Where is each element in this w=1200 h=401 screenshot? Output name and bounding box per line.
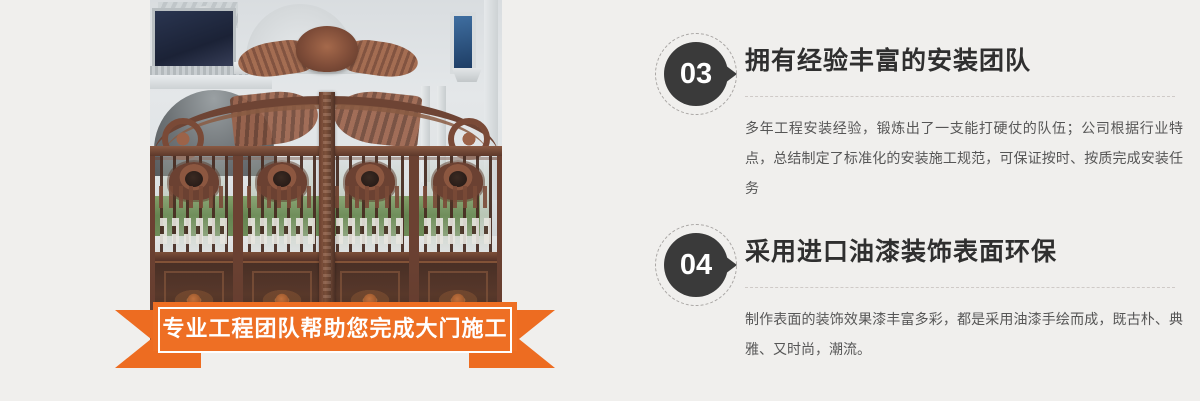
gate-crest <box>296 26 358 72</box>
gate-leaf-wing <box>159 186 229 208</box>
feature-list: 03 拥有经验丰富的安装团队 多年工程安装经验，锻炼出了一支能打硬仗的队伍；公司… <box>655 0 1175 401</box>
gate-leaf-mid-rail <box>419 252 497 261</box>
promo-banner: 专业工程团队帮助您完成大门施工 03 拥有经验丰富的安装团队 多年工程安装经验，… <box>0 0 1200 401</box>
gate-leaf-wing <box>423 186 493 208</box>
feature-divider <box>745 96 1175 97</box>
gate-photo <box>150 0 502 341</box>
photo-caption-ribbon: 专业工程团队帮助您完成大门施工 <box>115 310 555 368</box>
feature-body-text: 多年工程安装经验，锻炼出了一支能打硬仗的队伍；公司根据行业特点，总结制定了标准化… <box>745 114 1183 204</box>
feature-badge-03: 03 <box>655 33 737 115</box>
feature-number: 04 <box>664 233 728 297</box>
feature-title: 拥有经验丰富的安装团队 <box>745 45 1175 77</box>
gate-structure <box>150 0 502 341</box>
feature-divider <box>745 287 1175 288</box>
feature-heading-wrap: 采用进口油漆装饰表面环保 <box>745 236 1175 268</box>
ribbon-caption-text: 专业工程团队帮助您完成大门施工 <box>153 302 517 351</box>
gate-leaf-wing <box>335 186 405 208</box>
feature-badge-04: 04 <box>655 224 737 306</box>
ribbon-inner-border-bottom <box>158 351 512 353</box>
feature-body-text: 制作表面的装饰效果漆丰富多彩，都是采用油漆手绘而成，既古朴、典雅、又时尚，潮流。 <box>745 305 1183 365</box>
gate-leaf-wing <box>247 186 317 208</box>
gate-leaf-mid-rail <box>155 252 233 261</box>
gate-leaf-balusters <box>424 218 492 244</box>
feature-title: 采用进口油漆装饰表面环保 <box>745 236 1175 268</box>
gate-photo-image <box>150 0 502 341</box>
gate-leaf-balusters <box>336 218 404 244</box>
feature-number: 03 <box>664 42 728 106</box>
gate-leaf-mid-rail <box>331 252 409 261</box>
feature-heading-wrap: 拥有经验丰富的安装团队 <box>745 45 1175 77</box>
gate-leaf-balusters <box>248 218 316 244</box>
gate-leaf-mid-rail <box>243 252 321 261</box>
gate-leaf-balusters <box>160 218 228 244</box>
